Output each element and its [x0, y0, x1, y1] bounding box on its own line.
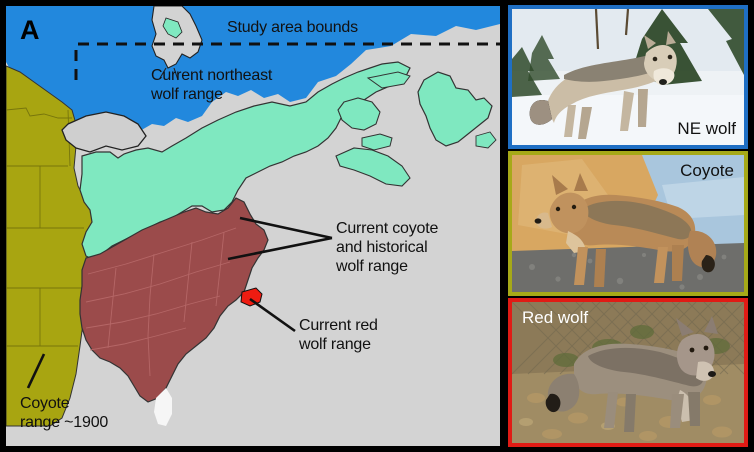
label-current-coyote-and-historical-wolf-range: Current coyote and historical wolf range — [336, 219, 438, 276]
caption-ne-wolf: NE wolf — [677, 119, 736, 139]
panel-letter: A — [20, 15, 40, 46]
label-current-red-wolf-range: Current red wolf range — [299, 316, 378, 354]
photo-card-ne-wolf: NE wolf — [508, 5, 748, 149]
photo-column: NE wolf — [508, 5, 748, 447]
caption-coyote: Coyote — [680, 161, 734, 181]
label-coyote-range-1900: Coyote range ~1900 — [20, 394, 108, 432]
photo-card-coyote: Coyote — [508, 151, 748, 296]
label-current-northeast-wolf-range: Current northeast wolf range — [151, 66, 272, 104]
caption-red-wolf: Red wolf — [522, 308, 588, 328]
photo-card-red-wolf: Red wolf — [508, 298, 748, 447]
range-map: A Study area bounds Current northeast wo… — [6, 6, 500, 446]
label-study-area-bounds: Study area bounds — [227, 18, 358, 37]
figure-panel-a: A Study area bounds Current northeast wo… — [0, 0, 754, 452]
